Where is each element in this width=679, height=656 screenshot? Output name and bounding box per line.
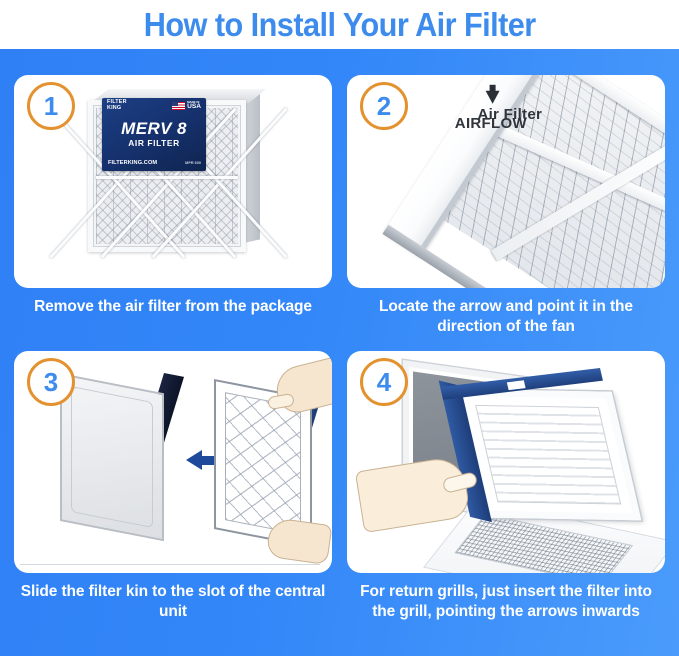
step-badge-2: 2 bbox=[360, 82, 408, 130]
brand-line-2: KING bbox=[107, 105, 121, 111]
infographic-root: How to Install Your Air Filter bbox=[0, 0, 679, 656]
step-3-card: 3 bbox=[14, 351, 332, 573]
return-grill-door bbox=[455, 389, 641, 520]
filter-mesh-pattern bbox=[225, 392, 301, 535]
merv-rating: MERV 8 bbox=[102, 120, 206, 137]
step-item-4: 4 For return grills, just insert the fil… bbox=[347, 351, 665, 623]
page-title: How to Install Your Air Filter bbox=[144, 8, 536, 41]
floor-line bbox=[20, 564, 320, 566]
step-2-card: AIRFLOW Air Filter 2 bbox=[347, 75, 665, 288]
filter-corner: AIRFLOW Air Filter bbox=[383, 75, 665, 288]
step-3-caption: Slide the filter kin to the slot of the … bbox=[14, 582, 332, 623]
grill-louvers bbox=[475, 405, 621, 505]
hand-lower bbox=[266, 517, 332, 565]
step-badge-1: 1 bbox=[27, 82, 75, 130]
step-4-caption: For return grills, just insert the filte… bbox=[347, 582, 665, 623]
body-background: FILTER KING MADE IN USA bbox=[0, 49, 679, 656]
steps-grid: FILTER KING MADE IN USA bbox=[0, 49, 679, 656]
product-label: FILTER KING MADE IN USA bbox=[102, 98, 206, 171]
made-in-usa-badge: MADE IN USA bbox=[172, 101, 201, 111]
step-1-card: FILTER KING MADE IN USA bbox=[14, 75, 332, 288]
usa-text-block: MADE IN USA bbox=[187, 101, 201, 111]
air-filter-held bbox=[210, 369, 332, 541]
step-2-caption: Locate the arrow and point it in the dir… bbox=[347, 297, 665, 338]
installer-hand bbox=[355, 455, 471, 533]
step-badge-4: 4 bbox=[360, 358, 408, 406]
title-band: How to Install Your Air Filter bbox=[0, 0, 679, 49]
step-item-1: FILTER KING MADE IN USA bbox=[14, 75, 332, 317]
mpr-code: MPR 600 bbox=[185, 161, 201, 165]
airflow-direction-arrow-icon bbox=[486, 91, 500, 104]
step-1-caption: Remove the air filter from the package bbox=[14, 297, 332, 317]
brand-website: FILTERKING.COM bbox=[108, 160, 157, 166]
product-type: AIR FILTER bbox=[102, 139, 206, 147]
central-unit-slot bbox=[60, 365, 190, 530]
step-badge-3: 3 bbox=[27, 358, 75, 406]
step-4-card: 4 bbox=[347, 351, 665, 573]
country-text: USA bbox=[187, 103, 201, 110]
label-header: FILTER KING MADE IN USA bbox=[102, 100, 206, 111]
step-item-3: 3 Slide the filter kin to the slot of th… bbox=[14, 351, 332, 623]
filter-king-logo: FILTER KING bbox=[107, 100, 127, 111]
step-item-2: AIRFLOW Air Filter 2 Locate the arrow an… bbox=[347, 75, 665, 338]
unit-front-face bbox=[60, 373, 164, 541]
air-filter-side-text: Air Filter bbox=[477, 106, 542, 123]
merv8-filter-box: FILTER KING MADE IN USA bbox=[88, 89, 260, 257]
usa-flag-icon bbox=[172, 102, 185, 110]
ceiling-vent-mesh bbox=[454, 514, 633, 573]
label-footer: FILTERKING.COM MPR 600 bbox=[108, 160, 201, 166]
